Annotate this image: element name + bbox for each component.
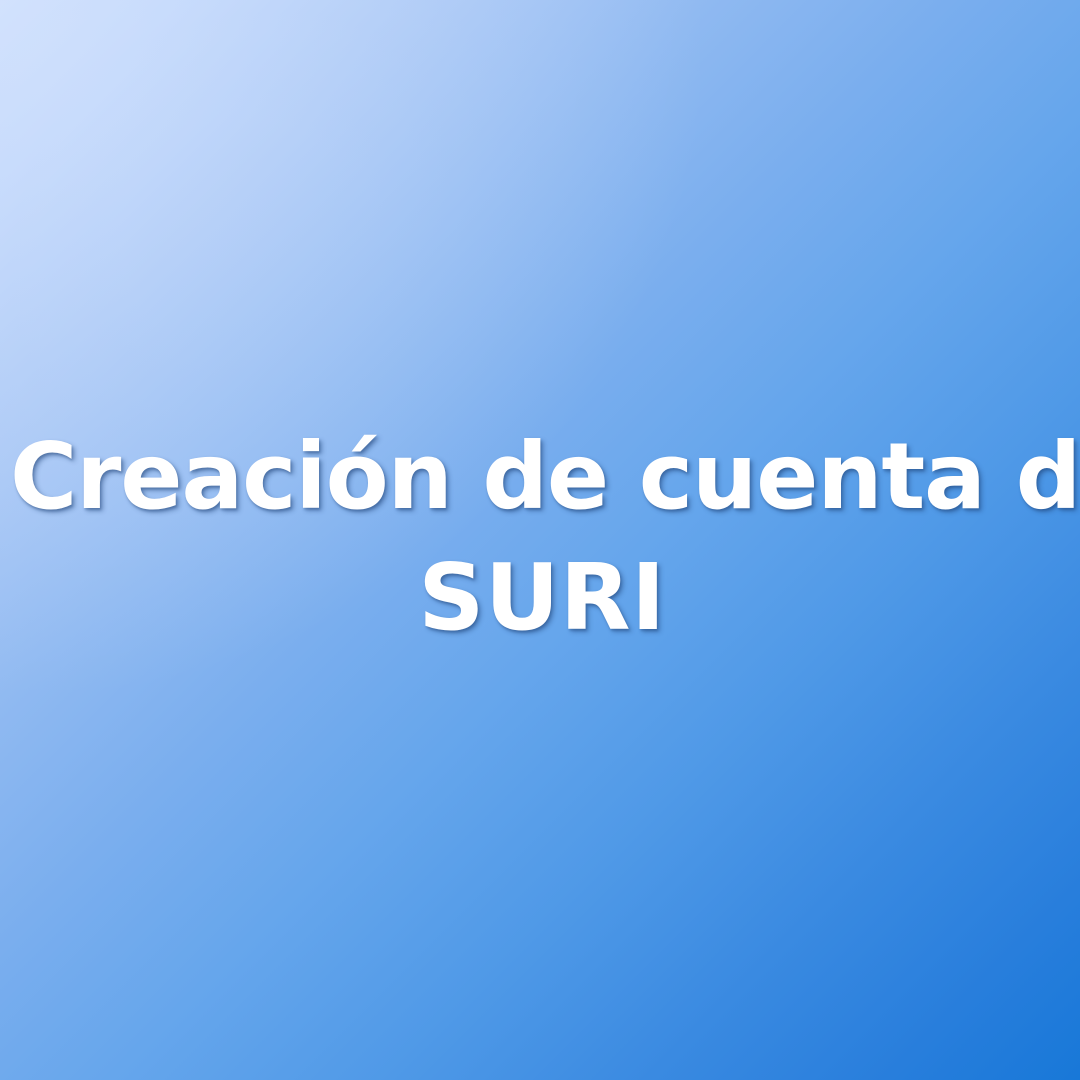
headline-line-2: SURI [10,537,1074,658]
title-card: Creación de cuenta de SURI [0,0,1080,1080]
headline-block: Creación de cuenta de SURI [0,416,1080,658]
headline-line-1: Creación de cuenta de [10,416,1074,537]
